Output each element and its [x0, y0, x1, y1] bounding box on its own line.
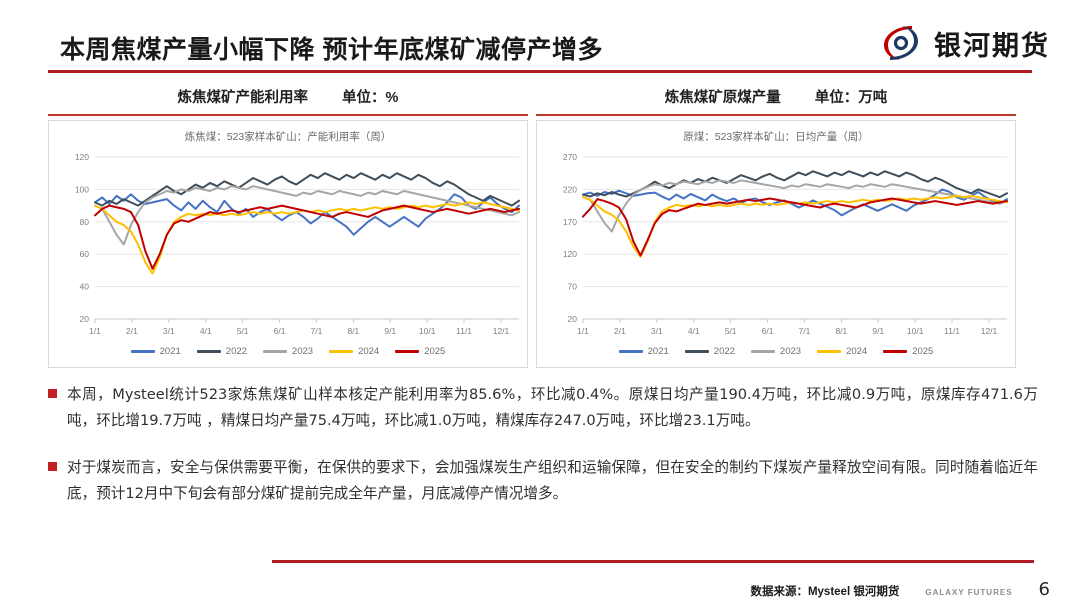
chart-unit-left: 单位：% — [342, 90, 398, 106]
legend-item-2021[interactable]: 2021 — [131, 346, 181, 357]
page-number: 6 — [1039, 579, 1050, 600]
legend-label: 2024 — [846, 346, 867, 357]
chart-heading-right: 炼焦煤矿原煤产量单位：万吨 — [536, 86, 1016, 114]
svg-text:8/1: 8/1 — [835, 326, 847, 336]
svg-text:6/1: 6/1 — [274, 326, 286, 336]
chart-unit-right: 单位：万吨 — [815, 90, 888, 106]
svg-text:40: 40 — [80, 282, 90, 292]
slide-footer: 数据来源：Mysteel 银河期货 GALAXY FUTURES 6 — [750, 579, 1050, 600]
legend-item-2024[interactable]: 2024 — [329, 346, 379, 357]
svg-text:10/1: 10/1 — [419, 326, 436, 336]
svg-text:1/1: 1/1 — [577, 326, 589, 336]
svg-text:3/1: 3/1 — [651, 326, 663, 336]
legend-swatch-icon — [685, 350, 709, 353]
legend-swatch-icon — [883, 350, 907, 353]
data-source: 数据来源：Mysteel 银河期货 — [750, 583, 899, 599]
line-plot-right: 20701201702202701/12/13/14/15/16/17/18/1… — [537, 121, 1017, 369]
legend-label: 2023 — [780, 346, 801, 357]
svg-text:120: 120 — [563, 249, 577, 259]
chart-heading-text-left: 炼焦煤矿产能利用率 — [178, 90, 309, 106]
legend-swatch-icon — [619, 350, 643, 353]
legend-label: 2022 — [226, 346, 247, 357]
title-divider — [48, 70, 1032, 73]
svg-text:6/1: 6/1 — [762, 326, 774, 336]
svg-text:80: 80 — [80, 217, 90, 227]
legend-item-2023[interactable]: 2023 — [263, 346, 313, 357]
svg-text:2/1: 2/1 — [614, 326, 626, 336]
legend-swatch-icon — [131, 350, 155, 353]
chart-area-right: 原煤：523家样本矿山：日均产量（周） 20701201702202701/12… — [536, 120, 1016, 368]
legend-label: 2025 — [912, 346, 933, 357]
chart-legend-left: 20212022202320242025 — [49, 346, 527, 357]
svg-text:220: 220 — [563, 184, 577, 194]
svg-text:11/1: 11/1 — [944, 326, 960, 336]
chart-legend-right: 20212022202320242025 — [537, 346, 1015, 357]
legend-label: 2025 — [424, 346, 445, 357]
footer-divider — [272, 560, 1034, 563]
svg-text:270: 270 — [563, 152, 577, 162]
legend-swatch-icon — [751, 350, 775, 353]
svg-text:12/1: 12/1 — [981, 326, 998, 336]
chart-panel-raw-coal-output: 炼焦煤矿原煤产量单位：万吨 原煤：523家样本矿山：日均产量（周） 207012… — [536, 86, 1016, 361]
svg-text:11/1: 11/1 — [456, 326, 472, 336]
galaxy-swoosh-icon — [878, 20, 924, 66]
svg-text:10/1: 10/1 — [907, 326, 924, 336]
brand-name: 银河期货 — [934, 24, 1050, 63]
svg-text:3/1: 3/1 — [163, 326, 175, 336]
legend-item-2023[interactable]: 2023 — [751, 346, 801, 357]
body-bullets: 本周，Mysteel统计523家炼焦煤矿山样本核定产能利用率为85.6%，环比减… — [48, 382, 1038, 528]
svg-text:9/1: 9/1 — [872, 326, 884, 336]
legend-item-2022[interactable]: 2022 — [685, 346, 735, 357]
svg-text:7/1: 7/1 — [311, 326, 323, 336]
legend-label: 2023 — [292, 346, 313, 357]
brand-logo: 银河期货 — [878, 20, 1050, 66]
bullet-item: 本周，Mysteel统计523家炼焦煤矿山样本核定产能利用率为85.6%，环比减… — [48, 382, 1038, 433]
legend-swatch-icon — [329, 350, 353, 353]
svg-text:4/1: 4/1 — [200, 326, 212, 336]
legend-swatch-icon — [197, 350, 221, 353]
chart-heading-divider-right — [536, 114, 1016, 116]
bullet-marker-icon — [48, 462, 57, 471]
line-plot-left: 204060801001201/12/13/14/15/16/17/18/19/… — [49, 121, 529, 369]
chart-panel-capacity-utilization: 炼焦煤矿产能利用率单位：% 炼焦煤：523家样本矿山：产能利用率（周） 2040… — [48, 86, 528, 361]
bullet-marker-icon — [48, 389, 57, 398]
legend-swatch-icon — [395, 350, 419, 353]
legend-label: 2022 — [714, 346, 735, 357]
chart-heading-left: 炼焦煤矿产能利用率单位：% — [48, 86, 528, 114]
svg-text:5/1: 5/1 — [725, 326, 737, 336]
svg-text:5/1: 5/1 — [237, 326, 249, 336]
legend-item-2025[interactable]: 2025 — [883, 346, 933, 357]
legend-item-2022[interactable]: 2022 — [197, 346, 247, 357]
svg-text:1/1: 1/1 — [89, 326, 101, 336]
svg-text:70: 70 — [568, 282, 578, 292]
svg-text:2/1: 2/1 — [126, 326, 138, 336]
bullet-text: 对于煤炭而言，安全与保供需要平衡，在保供的要求下，会加强煤炭生产组织和运输保障，… — [67, 455, 1038, 506]
svg-text:60: 60 — [80, 249, 90, 259]
svg-text:20: 20 — [568, 314, 578, 324]
legend-swatch-icon — [817, 350, 841, 353]
legend-swatch-icon — [263, 350, 287, 353]
legend-item-2021[interactable]: 2021 — [619, 346, 669, 357]
bullet-text: 本周，Mysteel统计523家炼焦煤矿山样本核定产能利用率为85.6%，环比减… — [67, 382, 1038, 433]
legend-item-2025[interactable]: 2025 — [395, 346, 445, 357]
svg-text:4/1: 4/1 — [688, 326, 700, 336]
slide-root: 本周焦煤产量小幅下降 预计年底煤矿减停产增多 银河期货 炼焦煤矿产能利用率单位：… — [0, 0, 1080, 608]
bullet-item: 对于煤炭而言，安全与保供需要平衡，在保供的要求下，会加强煤炭生产组织和运输保障，… — [48, 455, 1038, 506]
slide-header: 本周焦煤产量小幅下降 预计年底煤矿减停产增多 银河期货 — [0, 0, 1080, 72]
svg-text:100: 100 — [75, 184, 89, 194]
page-title: 本周焦煤产量小幅下降 预计年底煤矿减停产增多 — [60, 30, 603, 66]
brand-name-en: GALAXY FUTURES — [925, 588, 1012, 597]
legend-label: 2024 — [358, 346, 379, 357]
legend-item-2024[interactable]: 2024 — [817, 346, 867, 357]
svg-text:12/1: 12/1 — [493, 326, 510, 336]
svg-text:8/1: 8/1 — [347, 326, 359, 336]
legend-label: 2021 — [160, 346, 181, 357]
svg-text:170: 170 — [563, 217, 577, 227]
svg-text:7/1: 7/1 — [799, 326, 811, 336]
svg-text:20: 20 — [80, 314, 90, 324]
chart-heading-divider-left — [48, 114, 528, 116]
chart-area-left: 炼焦煤：523家样本矿山：产能利用率（周） 204060801001201/12… — [48, 120, 528, 368]
chart-heading-text-right: 炼焦煤矿原煤产量 — [665, 90, 781, 106]
svg-text:120: 120 — [75, 152, 89, 162]
legend-label: 2021 — [648, 346, 669, 357]
svg-text:9/1: 9/1 — [384, 326, 396, 336]
